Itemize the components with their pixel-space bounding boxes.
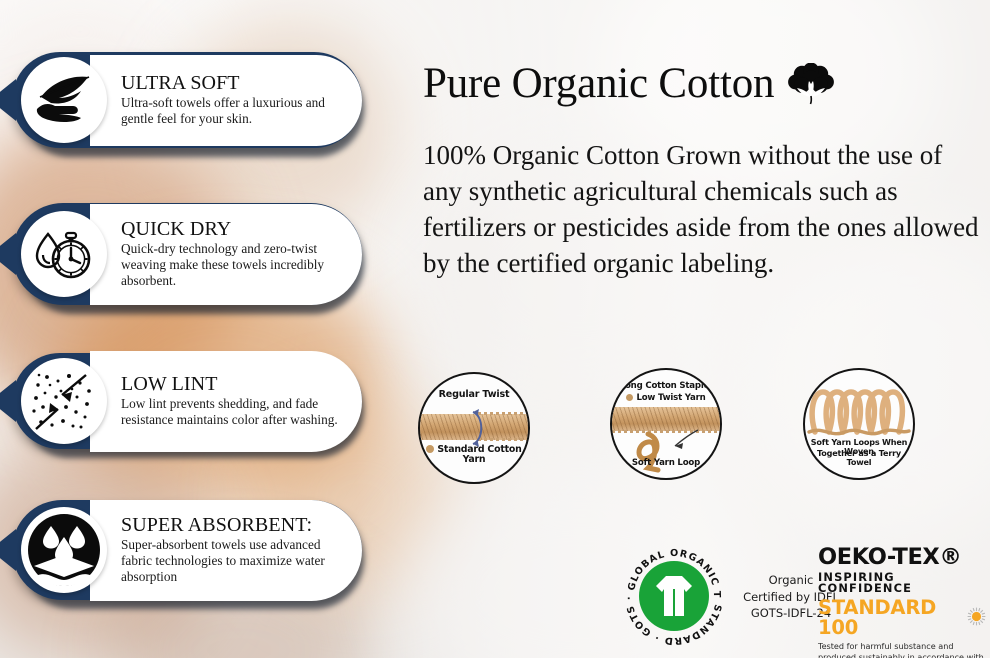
terry-loops-icon xyxy=(807,382,911,438)
yarn-diagram-regular-twist: Regular Twist Standard Cotton Yarn xyxy=(418,372,530,484)
feature-description: Super-absorbent towels use advanced fabr… xyxy=(121,537,342,584)
feature-text-ultra-soft: ULTRA SOFT Ultra-soft towels offer a lux… xyxy=(91,55,362,146)
feature-text-low-lint: LOW LINT Low lint prevents shedding, and… xyxy=(91,351,362,452)
feature-card-ultra-soft[interactable]: ULTRA SOFT Ultra-soft towels offer a lux… xyxy=(12,52,362,148)
oeko-tex-tagline: INSPIRING CONFIDENCE xyxy=(818,572,986,595)
right-content: Pure Organic Cotton 100% Orga xyxy=(418,0,990,658)
yarn-bottom-label: Standard Cotton Yarn xyxy=(420,445,528,466)
oeko-tex-logo: OEKO-TEX® INSPIRING CONFIDENCE STANDARD … xyxy=(818,546,986,658)
yarn-top-label-line2: Low Twist Yarn xyxy=(612,394,720,404)
page-title-text: Pure Organic Cotton xyxy=(423,62,774,105)
feature-card-quick-dry[interactable]: QUICK DRY Quick-dry technology and zero-… xyxy=(12,203,362,305)
made-in-green-seal-icon xyxy=(967,607,986,630)
oeko-tex-brand: OEKO-TEX® xyxy=(818,546,986,569)
oeko-tex-standard: STANDARD 100 xyxy=(818,598,986,637)
feature-title: LOW LINT xyxy=(121,374,342,395)
feature-card-super-absorbent[interactable]: SUPER ABSORBENT: Super-absorbent towels … xyxy=(12,500,362,600)
page-title: Pure Organic Cotton xyxy=(423,62,983,105)
pill-tail xyxy=(0,529,16,571)
feature-text-super-absorbent: SUPER ABSORBENT: Super-absorbent towels … xyxy=(91,500,362,601)
feature-description: Low lint prevents shedding, and fade res… xyxy=(121,396,342,428)
oeko-fine-print-text: Tested for harmful substance and produce… xyxy=(818,641,984,658)
feature-title: SUPER ABSORBENT: xyxy=(121,515,342,536)
feature-title: ULTRA SOFT xyxy=(121,73,342,94)
certification-group: GLOBAL ORGANIC TEXTILE STANDARD · GOTS ·… xyxy=(418,540,990,652)
feature-description: Ultra-soft towels offer a luxurious and … xyxy=(121,95,342,127)
feature-text-quick-dry: QUICK DRY Quick-dry technology and zero-… xyxy=(91,204,362,305)
yarn-bottom-label: Soft Yarn Loop xyxy=(612,459,720,469)
legend-dot-icon xyxy=(426,445,434,453)
yarn-loop-icon xyxy=(628,430,668,476)
hand-holding-feather-icon xyxy=(21,57,107,143)
pointer-arrow-icon xyxy=(670,428,700,452)
cotton-boll-icon xyxy=(788,63,834,105)
yarn-diagram-low-twist: Long Cotton Staple, Low Twist Yarn Soft … xyxy=(610,368,722,480)
lint-particles-arrows-icon xyxy=(21,358,107,444)
feature-card-low-lint[interactable]: LOW LINT Low lint prevents shedding, and… xyxy=(12,353,362,449)
infographic-canvas: ULTRA SOFT Ultra-soft towels offer a lux… xyxy=(0,0,990,658)
feature-description: Quick-dry technology and zero-twist weav… xyxy=(121,241,342,288)
pill-tail xyxy=(0,380,16,422)
feature-list: ULTRA SOFT Ultra-soft towels offer a lux… xyxy=(0,0,400,658)
intro-paragraph: 100% Organic Cotton Grown without the us… xyxy=(423,138,981,282)
yarn-top-label-line1: Long Cotton Staple, xyxy=(612,382,720,392)
oeko-tex-fine-print: Tested for harmful substance and produce… xyxy=(818,641,986,658)
water-drops-fabric-layers-icon xyxy=(21,507,107,593)
yarn-bottom-label-line2: Together as a Terry Towel xyxy=(805,449,913,467)
pill-tail xyxy=(0,233,16,275)
feature-title: QUICK DRY xyxy=(121,219,342,240)
legend-dot-icon xyxy=(626,394,633,401)
pill-tail xyxy=(0,79,16,121)
yarn-diagram-terry-loops: Soft Yarn Loops When Woven Together as a… xyxy=(803,368,915,480)
yarn-diagram-group: Regular Twist Standard Cotton Yarn Long … xyxy=(418,372,990,484)
yarn-top-label: Regular Twist xyxy=(420,390,528,401)
gots-logo: GLOBAL ORGANIC TEXTILE STANDARD · GOTS · xyxy=(622,544,726,648)
droplet-stopwatch-icon xyxy=(21,211,107,297)
